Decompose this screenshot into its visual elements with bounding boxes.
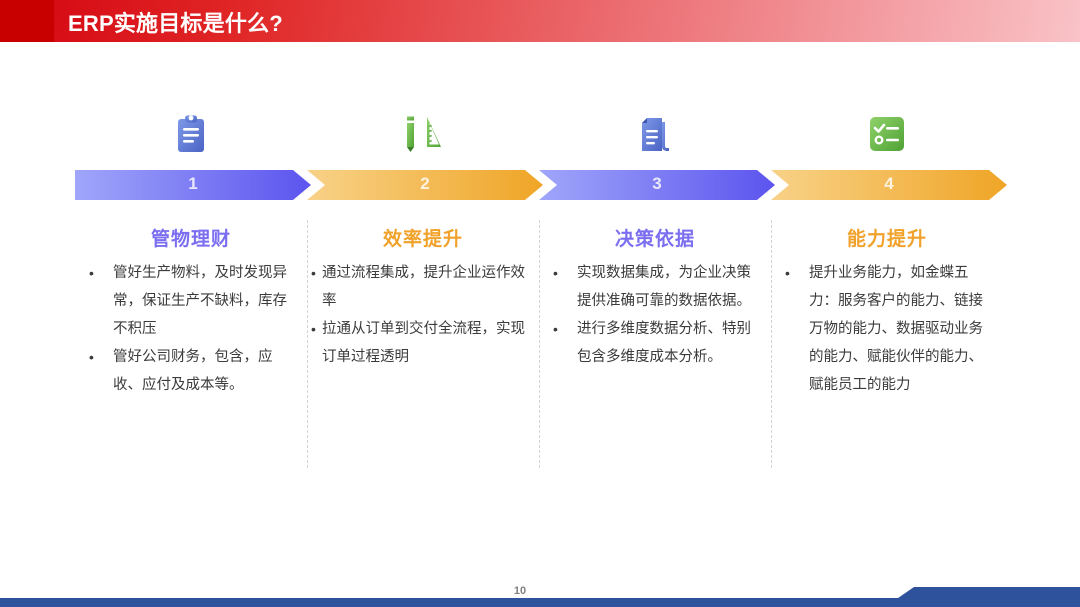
clipboard-icon xyxy=(75,108,307,160)
list-item: • 实现数据集成，为企业决策提供准确可靠的数据依据。 xyxy=(553,260,757,316)
bullet-marker: • xyxy=(553,260,577,287)
list-item-text: 拉通从订单到交付全流程，实现订单过程透明 xyxy=(322,316,533,372)
column-bullets-2: • 通过流程集成，提升企业运作效率 • 拉通从订单到交付全流程，实现订单过程透明 xyxy=(307,260,533,372)
column-bullets-3: • 实现数据集成，为企业决策提供准确可靠的数据依据。 • 进行多维度数据分析、特… xyxy=(539,260,757,372)
step-arrow-1[interactable]: 1 xyxy=(75,170,311,200)
column-title-4: 能力提升 xyxy=(771,224,1003,251)
column-title-1: 管物理财 xyxy=(75,224,307,251)
pencil-ruler-icon xyxy=(307,108,539,160)
list-item-text: 提升业务能力，如金蝶五力：服务客户的能力、链接万物的能力、数据驱动业务的能力、赋… xyxy=(809,260,989,400)
step-number-3: 3 xyxy=(652,174,661,194)
header-accent-block xyxy=(0,0,54,42)
column-bullets-1: • 管好生产物料，及时发现异常，保证生产不缺料，库存不积压 • 管好公司财务，包… xyxy=(75,260,293,400)
slide-header-bar: ERP实施目标是什么? xyxy=(0,0,1080,42)
list-item: • 拉通从订单到交付全流程，实现订单过程透明 xyxy=(311,316,533,372)
step-number-4: 4 xyxy=(884,174,893,194)
list-item-text: 实现数据集成，为企业决策提供准确可靠的数据依据。 xyxy=(577,260,757,316)
bullet-marker: • xyxy=(553,316,577,343)
list-item-text: 管好公司财务，包含，应收、应付及成本等。 xyxy=(113,344,293,400)
list-item: • 提升业务能力，如金蝶五力：服务客户的能力、链接万物的能力、数据驱动业务的能力… xyxy=(785,260,989,400)
column-title-3: 决策依据 xyxy=(539,224,771,251)
checklist-icon xyxy=(771,108,1003,160)
column-bullets-4: • 提升业务能力，如金蝶五力：服务客户的能力、链接万物的能力、数据驱动业务的能力… xyxy=(771,260,989,400)
report-document-icon xyxy=(539,108,771,160)
list-item-text: 通过流程集成，提升企业运作效率 xyxy=(322,260,533,316)
step-number-2: 2 xyxy=(420,174,429,194)
bullet-marker: • xyxy=(311,260,322,287)
column-title-2: 效率提升 xyxy=(307,224,539,251)
list-item: • 管好公司财务，包含，应收、应付及成本等。 xyxy=(89,344,293,400)
list-item-text: 管好生产物料，及时发现异常，保证生产不缺料，库存不积压 xyxy=(113,260,293,344)
bullet-marker: • xyxy=(89,260,113,287)
bullet-marker: • xyxy=(311,316,322,343)
step-arrow-2[interactable]: 2 xyxy=(307,170,543,200)
page-title: ERP实施目标是什么? xyxy=(68,6,283,38)
list-item-text: 进行多维度数据分析、特别包含多维度成本分析。 xyxy=(577,316,757,372)
step-number-1: 1 xyxy=(188,174,197,194)
bullet-marker: • xyxy=(785,260,809,287)
list-item: • 通过流程集成，提升企业运作效率 xyxy=(311,260,533,316)
list-item: • 管好生产物料，及时发现异常，保证生产不缺料，库存不积压 xyxy=(89,260,293,344)
step-arrow-3[interactable]: 3 xyxy=(539,170,775,200)
list-item: • 进行多维度数据分析、特别包含多维度成本分析。 xyxy=(553,316,757,372)
page-number: 10 xyxy=(505,585,535,597)
bullet-marker: • xyxy=(89,344,113,371)
slide-body: 1 2 3 4 管物理财 效率提升 决策依据 能力提升 • 管好生产物料，及时发… xyxy=(0,42,1080,583)
step-arrow-4[interactable]: 4 xyxy=(771,170,1007,200)
